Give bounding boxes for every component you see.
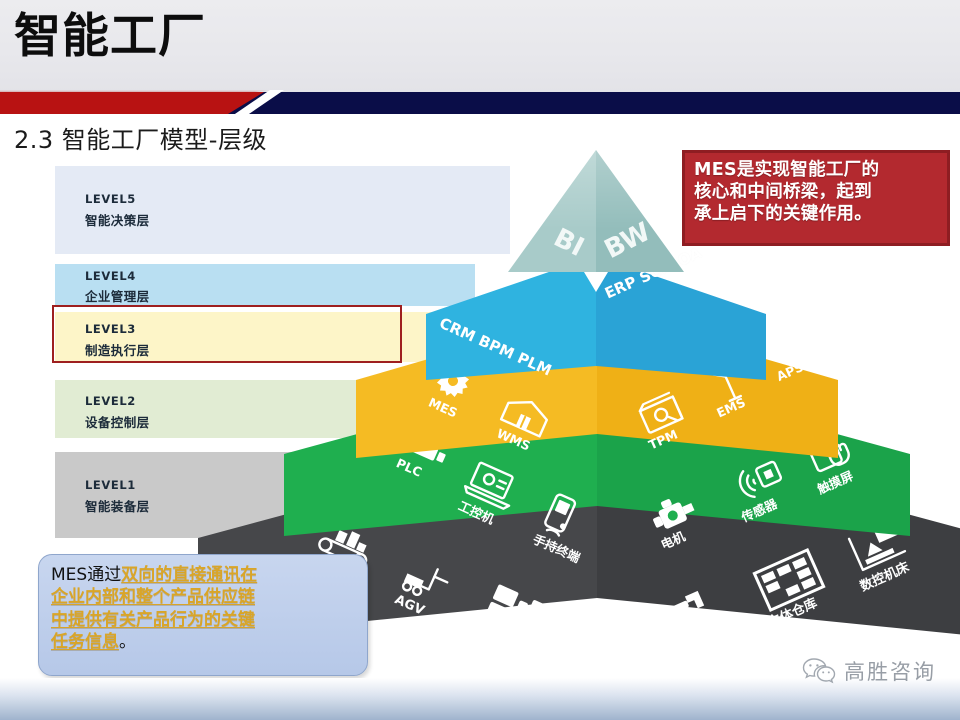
callout-red: MES是实现智能工厂的 核心和中间桥梁，起到 承上启下的关键作用。 xyxy=(682,150,950,246)
callout-red-line: MES是实现智能工厂的 xyxy=(694,159,938,181)
callout-red-line: 承上启下的关键作用。 xyxy=(694,203,938,225)
callout-blue-highlight: 任务信息 xyxy=(51,632,119,652)
callout-blue-line: 企业内部和整个产品供应链 xyxy=(51,586,355,608)
pyramid-apex-highlight xyxy=(508,150,684,272)
header-stripe xyxy=(0,90,960,116)
watermark-text: 高胜咨询 xyxy=(844,656,936,686)
level-band-name: 智能装备层 xyxy=(85,496,150,515)
level-band-code: LEVEL4 xyxy=(85,269,136,283)
wechat-icon xyxy=(802,657,836,685)
level-band-code: LEVEL5 xyxy=(85,192,136,206)
watermark: 高胜咨询 xyxy=(802,656,936,686)
callout-blue-line: 任务信息。 xyxy=(51,631,355,653)
callout-blue-line: MES通过双向的直接通讯在 xyxy=(51,564,355,586)
callout-blue-highlight: 企业内部和整个产品供应链 xyxy=(51,587,255,607)
pyramid-layer-level4: CRM BPM PLM ERP SCM OA xyxy=(426,262,766,380)
level-band-name: 智能决策层 xyxy=(85,210,150,229)
level-band-name: 企业管理层 xyxy=(85,286,150,305)
page-title: 智能工厂 xyxy=(14,13,206,60)
callout-blue: MES通过双向的直接通讯在 企业内部和整个产品供应链 中提供有关产品行为的关键 … xyxy=(38,554,368,676)
callout-blue-line: 中提供有关产品行为的关键 xyxy=(51,609,355,631)
callout-blue-prefix: MES通过 xyxy=(51,565,121,585)
level-band-code: LEVEL2 xyxy=(85,394,136,408)
level-band-code: LEVEL1 xyxy=(85,478,136,492)
callout-blue-suffix: 。 xyxy=(119,632,136,652)
slide-root: 智能工厂 2.3 智能工厂模型-层级 LEVEL5 智能决策层 LEVEL4 企… xyxy=(0,0,960,720)
callout-blue-highlight: 双向的直接通讯在 xyxy=(121,565,257,585)
callout-red-line: 核心和中间桥梁，起到 xyxy=(694,181,938,203)
pyramid-apex: BI BW xyxy=(508,150,684,272)
callout-blue-highlight: 中提供有关产品行为的关键 xyxy=(51,610,255,630)
level-band-name: 设备控制层 xyxy=(85,412,150,431)
